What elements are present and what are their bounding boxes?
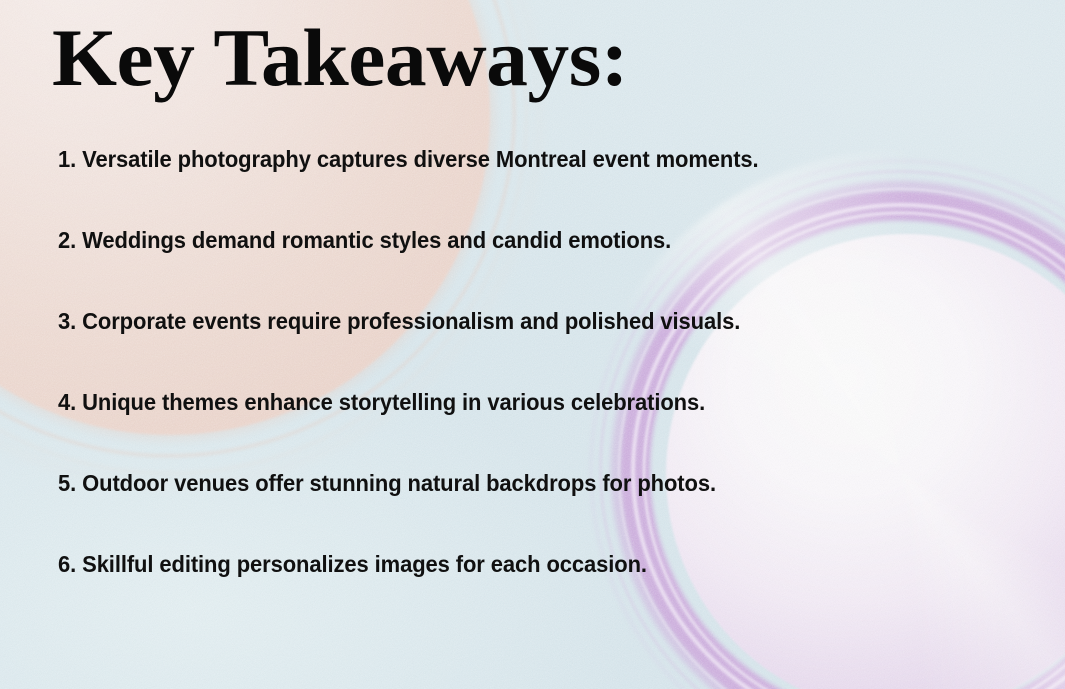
poster-content: Key Takeaways: 1. Versatile photography …: [0, 0, 1065, 689]
poster-canvas: Key Takeaways: 1. Versatile photography …: [0, 0, 1065, 689]
list-item: 4. Unique themes enhance storytelling in…: [58, 388, 981, 469]
list-item: 3. Corporate events require professional…: [58, 307, 981, 388]
list-item: 5. Outdoor venues offer stunning natural…: [58, 469, 981, 550]
page-title: Key Takeaways:: [52, 16, 628, 100]
list-item: 1. Versatile photography captures divers…: [58, 145, 981, 226]
list-item: 2. Weddings demand romantic styles and c…: [58, 226, 981, 307]
takeaways-list: 1. Versatile photography captures divers…: [58, 145, 1025, 631]
list-item: 6. Skillful editing personalizes images …: [58, 550, 981, 631]
